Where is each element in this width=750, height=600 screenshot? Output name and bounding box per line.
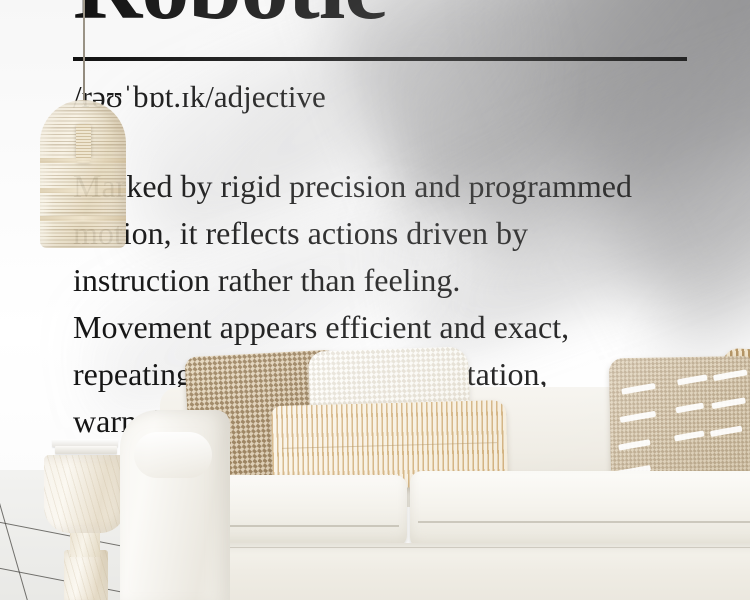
sofa-arm	[120, 410, 230, 600]
book-stack-item	[55, 446, 117, 454]
lamp-weave-band	[40, 158, 126, 163]
skirt-seam	[166, 547, 750, 548]
sofa	[120, 355, 750, 600]
pillow-dash	[711, 397, 746, 409]
pillow-seam	[282, 442, 497, 449]
mural-body-line: instruction rather than feeling.	[73, 257, 713, 304]
mural-body-line: motion, it reflects actions driven by	[73, 210, 713, 257]
pillow-dash	[620, 411, 656, 423]
pillow-dash	[713, 369, 748, 381]
arm-fold	[134, 432, 212, 478]
lamp-shade	[40, 100, 126, 248]
pillow-dash	[675, 403, 704, 414]
lamp-weave-band	[40, 216, 126, 221]
mural-body-line: Marked by rigid precision and programmed	[73, 163, 713, 210]
side-table-top	[44, 455, 126, 533]
beige-dash-stripe-pillow	[609, 356, 750, 489]
mural-divider-rule	[73, 57, 687, 61]
wood-grain-texture	[64, 550, 108, 600]
room-scene: Robotic /rəʊˈbɒt.ɪk/adjective Marked by …	[0, 0, 750, 600]
pillow-dash	[677, 374, 708, 385]
lamp-socket	[76, 124, 91, 162]
side-table-base	[64, 550, 108, 600]
sofa-skirt	[166, 543, 750, 600]
mural-body-line: Movement appears efficient and exact,	[73, 304, 713, 351]
cushion-seam	[418, 521, 750, 523]
pillow-dash	[674, 430, 705, 441]
lamp-weave-band	[40, 188, 126, 193]
pillow-dash	[710, 426, 743, 437]
lamp-cord	[83, 0, 85, 104]
floor-seam	[0, 471, 40, 600]
wood-grain-texture	[44, 455, 126, 533]
mural-title: Robotic	[73, 0, 386, 34]
sofa-cushion-right	[410, 471, 750, 549]
pillow-dash	[618, 439, 651, 450]
side-table	[44, 455, 126, 600]
pillow-dash	[621, 383, 656, 395]
